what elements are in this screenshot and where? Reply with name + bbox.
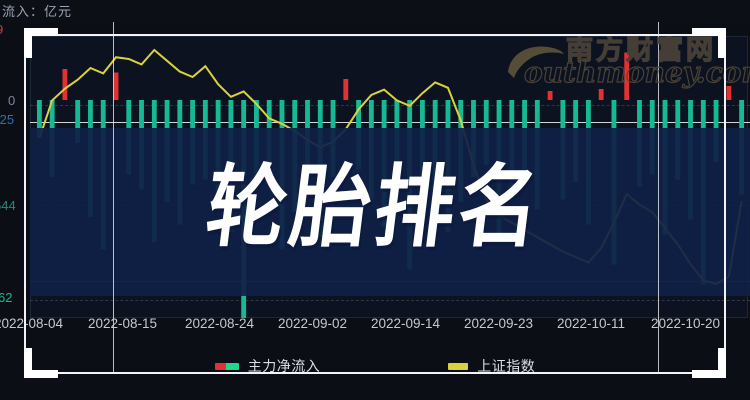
bar <box>382 100 387 227</box>
x-tick-7: 2022-10-20 <box>651 316 720 331</box>
y-axis-label-3: 644 <box>0 198 16 213</box>
bar <box>535 100 540 210</box>
x-tick-2: 2022-08-24 <box>185 316 254 331</box>
bar <box>241 100 246 318</box>
bar <box>203 100 208 180</box>
index-line-series <box>39 50 741 284</box>
bar <box>139 100 144 190</box>
bar <box>675 100 680 180</box>
legend-label-sse-index: 上证指数 <box>477 356 535 376</box>
bar <box>101 100 106 250</box>
bar <box>433 100 438 192</box>
bar <box>165 100 170 202</box>
bar <box>267 100 272 182</box>
bar <box>599 89 604 100</box>
bar <box>509 100 514 190</box>
bar <box>62 69 67 100</box>
bar <box>369 100 374 200</box>
bar <box>216 100 221 207</box>
bar <box>152 100 157 242</box>
legend-item-net-inflow[interactable]: 主力净流入 <box>215 356 321 376</box>
bar <box>739 100 744 195</box>
bar <box>573 100 578 182</box>
bar-series-group <box>37 53 744 319</box>
legend-label-net-inflow: 主力净流入 <box>248 356 321 376</box>
bar <box>292 100 297 212</box>
bar <box>126 100 131 175</box>
legend-swatch-sse-index-icon <box>448 363 468 370</box>
bar <box>624 53 629 101</box>
bar <box>446 100 451 232</box>
chart-page-root: 流入：亿元 9 0 .25 644 62 2022-08-04 2022-08-… <box>0 0 750 400</box>
bar <box>407 100 412 270</box>
bar <box>637 100 642 187</box>
bar <box>254 100 259 190</box>
x-tick-6: 2022-10-11 <box>557 316 625 331</box>
bar <box>650 100 655 175</box>
bar <box>331 100 336 177</box>
bar <box>228 100 233 232</box>
bar <box>318 100 323 237</box>
bar <box>88 100 93 217</box>
bar <box>484 100 489 165</box>
x-tick-4: 2022-09-14 <box>371 316 440 331</box>
bar <box>701 100 706 285</box>
bar <box>663 100 668 235</box>
y-axis-label-4: 62 <box>0 290 12 305</box>
chart-legend: 主力净流入 上证指数 <box>0 352 750 380</box>
bar <box>343 79 348 100</box>
bar <box>522 100 527 172</box>
bar <box>612 100 617 265</box>
x-axis: 2022-08-04 2022-08-15 2022-08-24 2022-09… <box>0 314 750 344</box>
top-unit-strip: 流入：亿元 <box>0 0 750 22</box>
y-axis-label-1: 0 <box>8 93 15 108</box>
bar <box>305 100 310 195</box>
bar <box>586 100 591 225</box>
bar <box>75 100 80 143</box>
bar <box>50 100 55 177</box>
bar <box>177 100 182 225</box>
bar <box>548 91 553 100</box>
legend-swatch-net-inflow-icon <box>215 363 239 370</box>
x-tick-3: 2022-09-02 <box>278 316 347 331</box>
bar <box>420 100 425 175</box>
bar <box>114 73 119 101</box>
bar <box>497 100 502 245</box>
bar <box>560 100 565 200</box>
bar <box>714 100 719 162</box>
legend-item-sse-index[interactable]: 上证指数 <box>448 356 535 376</box>
y-axis-label-0: 9 <box>0 22 3 37</box>
bar <box>688 100 693 220</box>
x-tick-0: 2022-08-04 <box>0 316 63 331</box>
x-tick-1: 2022-08-15 <box>88 316 157 331</box>
flow-unit-label: 流入：亿元 <box>2 1 72 20</box>
bar <box>190 100 195 185</box>
y-axis-label-2: .25 <box>0 112 14 127</box>
bar <box>726 86 731 100</box>
bar <box>394 100 399 185</box>
x-tick-5: 2022-09-23 <box>464 316 533 331</box>
